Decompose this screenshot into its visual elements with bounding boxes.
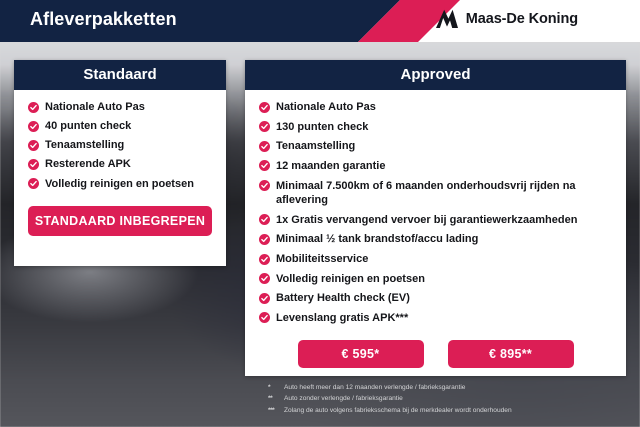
check-circle-icon [259,141,270,152]
feature-label: 130 punten check [276,120,368,135]
check-circle-icon [259,180,270,191]
list-item: 40 punten check [28,119,212,134]
footnote-text: Auto zonder verlengde / fabrieksgarantie [284,393,628,404]
feature-label: Volledig reinigen en poetsen [45,177,194,192]
feature-label: 40 punten check [45,119,131,134]
feature-label: Tenaamstelling [276,139,355,154]
list-item: Resterende APK [28,157,212,172]
check-circle-icon [259,273,270,284]
card-body-approved: Nationale Auto Pas 130 punten check Tena… [245,90,626,378]
check-circle-icon [28,121,39,132]
list-item: Tenaamstelling [259,139,612,154]
footnote-marker: ** [268,393,284,404]
footnote-item: * Auto heeft meer dan 12 maanden verleng… [268,382,628,393]
feature-label: Volledig reinigen en poetsen [276,272,425,287]
list-item: Volledig reinigen en poetsen [28,177,212,192]
list-item: Minimaal 7.500km of 6 maanden onderhouds… [259,179,612,208]
footnote-marker: * [268,382,284,393]
brand-lockup: Maas-De Koning [435,9,578,29]
list-item: Levenslang gratis APK*** [259,311,612,326]
feature-label: Tenaamstelling [45,138,124,153]
footnote-marker: *** [268,405,284,416]
feature-label: 1x Gratis vervangend vervoer bij garanti… [276,213,577,228]
list-item: Mobiliteitsservice [259,252,612,267]
feature-label: Levenslang gratis APK*** [276,311,408,326]
footnotes: * Auto heeft meer dan 12 maanden verleng… [268,382,628,416]
check-circle-icon [259,121,270,132]
list-item: Battery Health check (EV) [259,291,612,306]
package-card-approved: Approved Nationale Auto Pas 130 punten c… [245,60,626,376]
list-item: 130 punten check [259,120,612,135]
price-button-row: € 595* € 895** [259,340,612,368]
card-body-standard: Nationale Auto Pas 40 punten check Tenaa… [14,90,226,246]
check-circle-icon [259,254,270,265]
footnote-text: Auto heeft meer dan 12 maanden verlengde… [284,382,628,393]
feature-label: Nationale Auto Pas [45,100,145,115]
card-title-standard: Standaard [14,60,226,90]
feature-label: 12 maanden garantie [276,159,385,174]
check-circle-icon [28,159,39,170]
page-title: Afleverpakketten [30,9,177,30]
list-item: Tenaamstelling [28,138,212,153]
list-item: Minimaal ½ tank brandstof/accu lading [259,232,612,247]
check-circle-icon [28,178,39,189]
maas-de-koning-m-logo-icon [435,9,459,29]
feature-list-approved: Nationale Auto Pas 130 punten check Tena… [259,100,612,326]
feature-label: Nationale Auto Pas [276,100,376,115]
check-circle-icon [259,312,270,323]
page-header: Afleverpakketten Maas-De Koning [0,0,640,42]
list-item: 1x Gratis vervangend vervoer bij garanti… [259,213,612,228]
list-item: Volledig reinigen en poetsen [259,272,612,287]
feature-label: Mobiliteitsservice [276,252,368,267]
slide-root: Afleverpakketten Maas-De Koning Standaar… [0,0,640,427]
standaard-inbegrepen-button[interactable]: STANDAARD INBEGREPEN [28,206,212,236]
list-item: 12 maanden garantie [259,159,612,174]
brand-name: Maas-De Koning [466,11,578,27]
price-button-895[interactable]: € 895** [448,340,574,368]
footnote-item: *** Zolang de auto volgens fabrieksschem… [268,405,628,416]
feature-label: Battery Health check (EV) [276,291,410,306]
check-circle-icon [259,102,270,113]
check-circle-icon [259,293,270,304]
list-item: Nationale Auto Pas [28,100,212,115]
footnote-item: ** Auto zonder verlengde / fabrieksgaran… [268,393,628,404]
check-circle-icon [259,160,270,171]
card-title-approved: Approved [245,60,626,90]
feature-label: Resterende APK [45,157,131,172]
feature-list-standard: Nationale Auto Pas 40 punten check Tenaa… [28,100,212,191]
list-item: Nationale Auto Pas [259,100,612,115]
check-circle-icon [259,214,270,225]
package-card-standard: Standaard Nationale Auto Pas 40 punten c… [14,60,226,266]
price-button-595[interactable]: € 595* [298,340,424,368]
feature-label: Minimaal 7.500km of 6 maanden onderhouds… [276,179,612,208]
check-circle-icon [28,102,39,113]
feature-label: Minimaal ½ tank brandstof/accu lading [276,232,478,247]
footnote-text: Zolang de auto volgens fabrieksschema bi… [284,405,628,416]
check-circle-icon [28,140,39,151]
check-circle-icon [259,234,270,245]
